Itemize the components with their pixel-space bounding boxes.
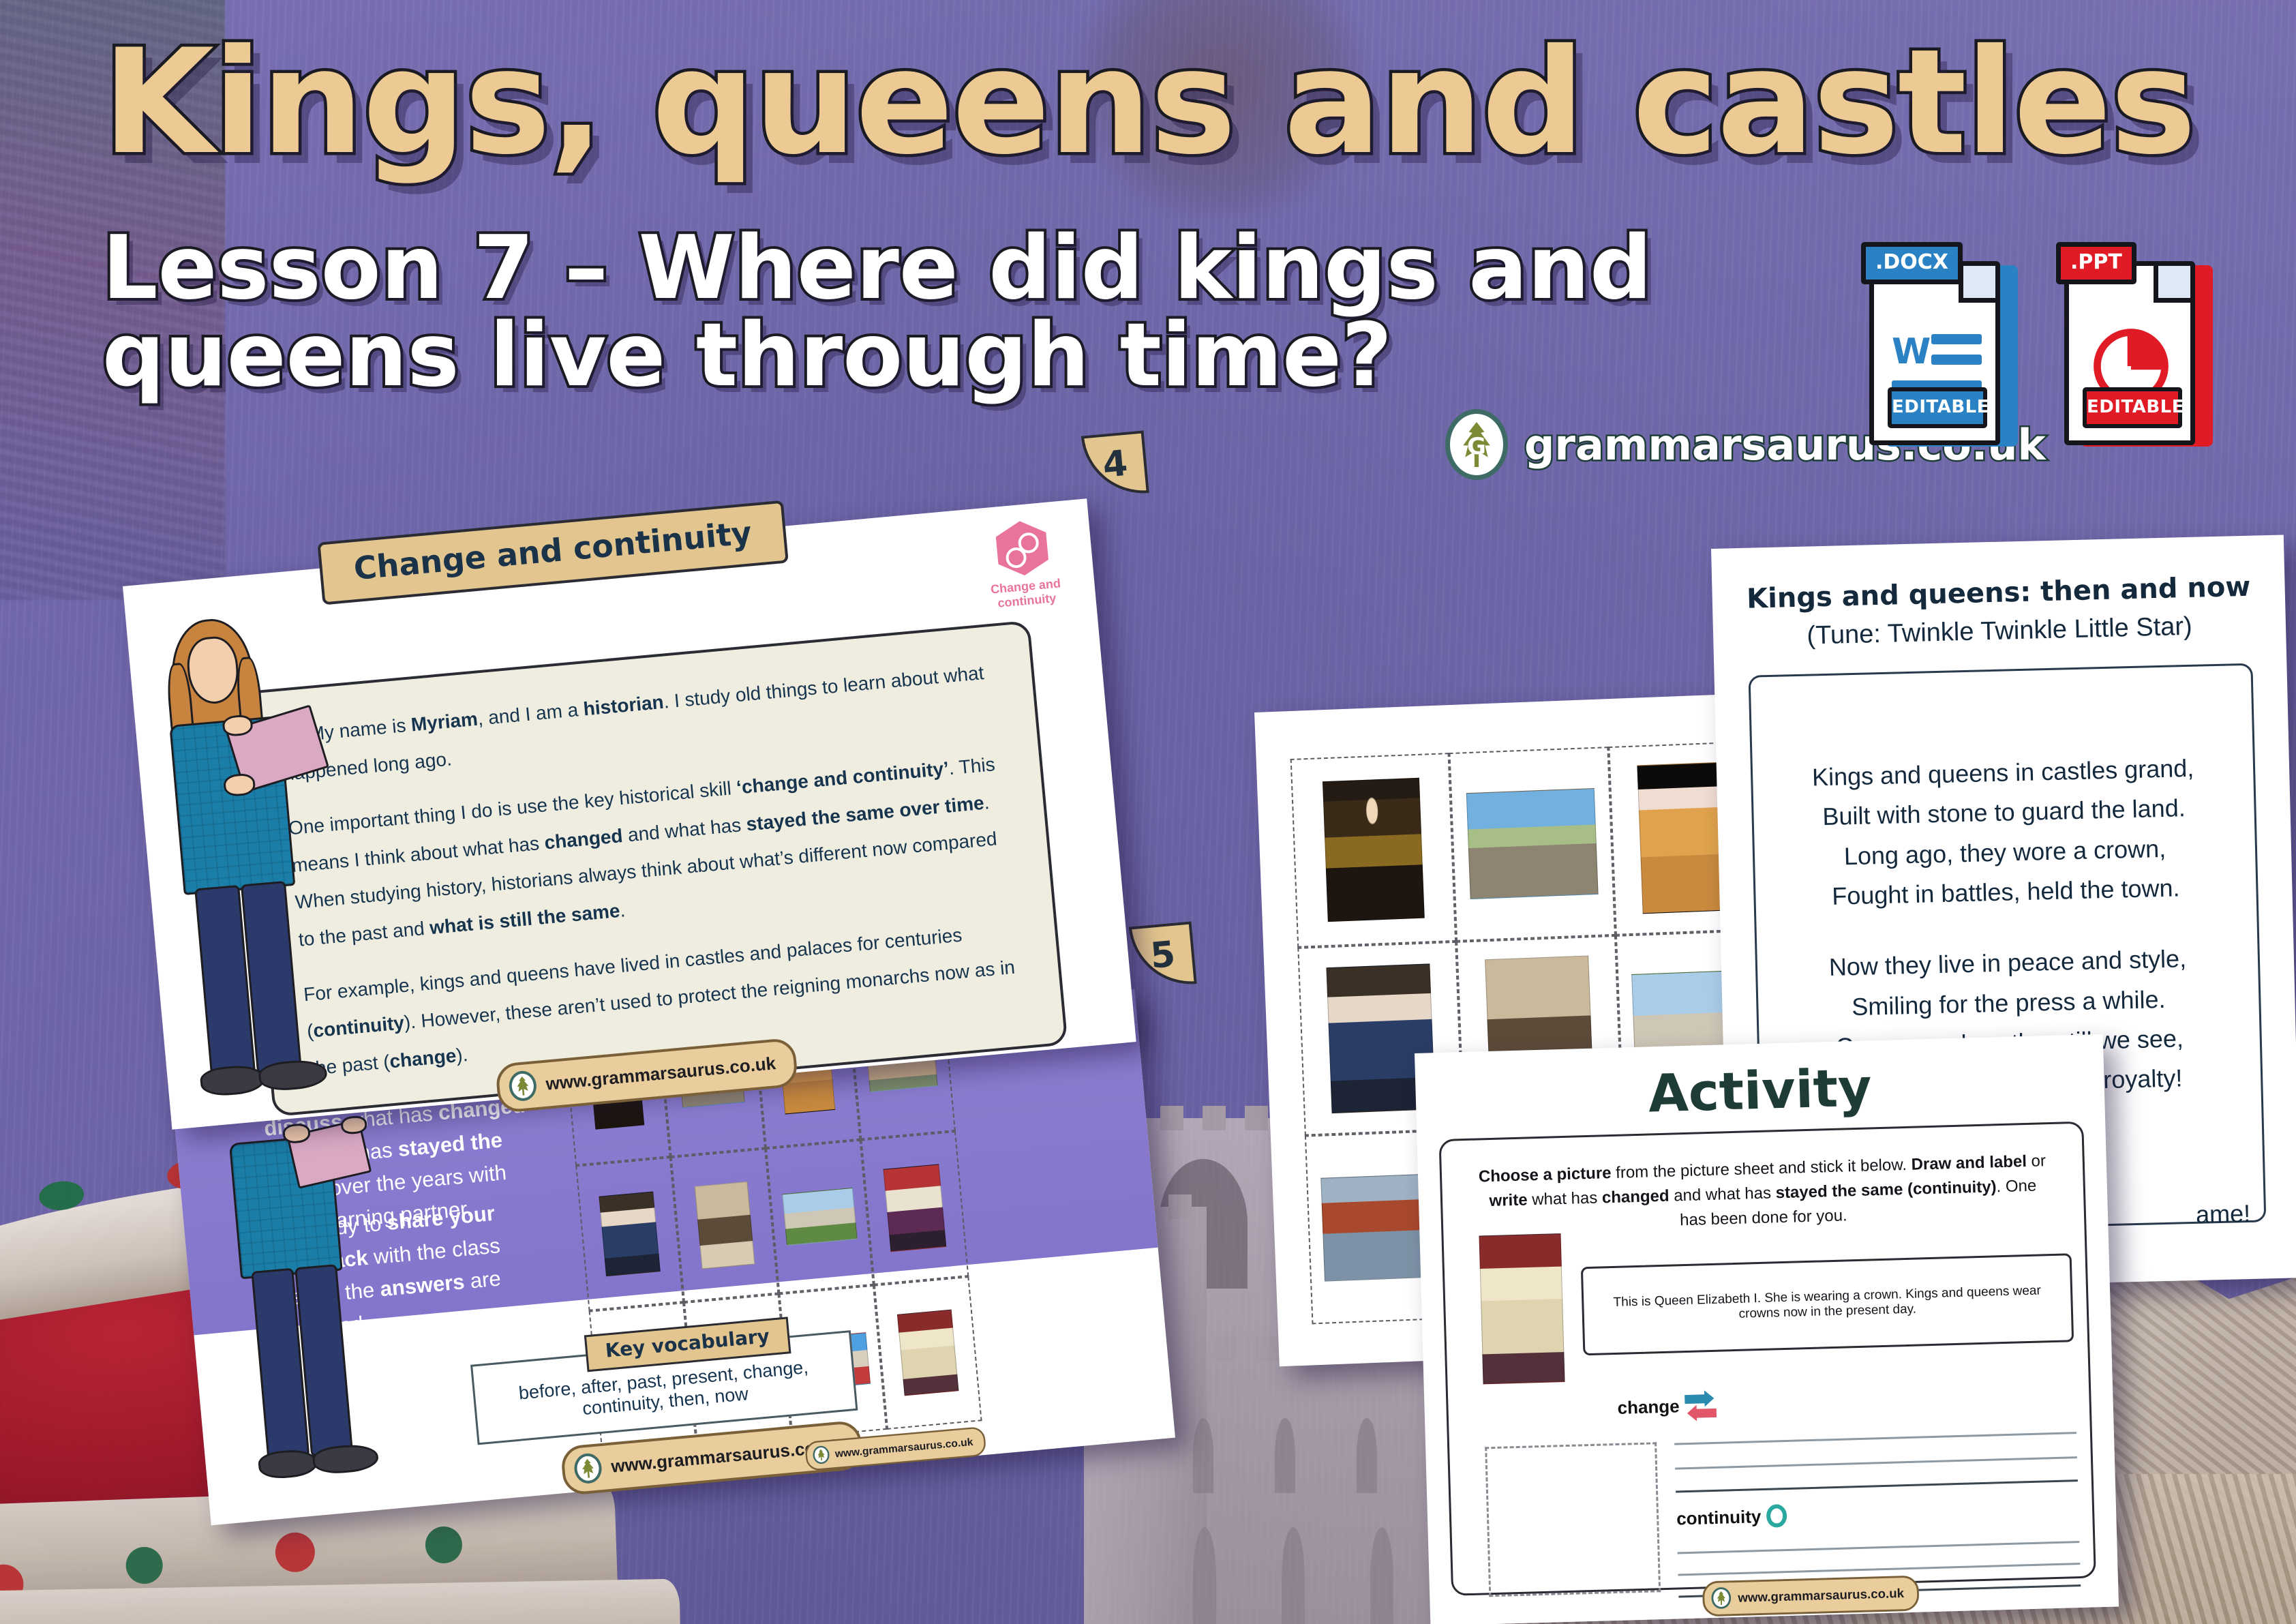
- docx-extension-label: .DOCX: [1861, 242, 1963, 284]
- grammarsaurus-shield-icon: G: [1445, 409, 1508, 480]
- activity-instruction: Choose a picture from the picture sheet …: [1473, 1149, 2053, 1239]
- pg5-cell[interactable]: [575, 1157, 684, 1310]
- skill-badge-label: Change and continuity: [981, 575, 1072, 612]
- activity-footer-url: www.grammarsaurus.co.uk: [1738, 1585, 1904, 1605]
- activity-write-line[interactable]: [1676, 1479, 2078, 1492]
- docx-badge[interactable]: W EDITABLE .DOCX: [1861, 242, 2018, 447]
- grammarsaurus-shield-icon: [1711, 1587, 1732, 1609]
- activity-change-label-row: change: [1617, 1392, 1717, 1422]
- change-arrows-icon: [1685, 1392, 1717, 1419]
- song-verse-1: Kings and queens in castles grand, Built…: [1753, 747, 2256, 918]
- slide-5-page-number: 5: [1149, 934, 1177, 977]
- skill-badge-change-and-continuity: Change and continuity: [976, 517, 1072, 612]
- pg5-cell[interactable]: [766, 1140, 874, 1293]
- poster-header: Kings, queens and castles Lesson 7 – Whe…: [0, 0, 2296, 505]
- ppt-extension-label: .PPT: [2056, 242, 2136, 284]
- grammarsaurus-shield-icon: [508, 1070, 538, 1102]
- file-format-badges: W EDITABLE .DOCX EDITABLE: [1861, 242, 2213, 447]
- pg5-cell[interactable]: [860, 1131, 969, 1284]
- activity-example-text: This is Queen Elizabeth I. She is wearin…: [1593, 1283, 2061, 1326]
- historian-speech-bubble: Hi! My name is Myriam, and I am a histor…: [235, 620, 1068, 1117]
- slide-4-page-number: 4: [1101, 443, 1129, 486]
- activity-example-textbox: This is Queen Elizabeth I. She is wearin…: [1581, 1253, 2074, 1355]
- page-title: Kings, queens and castles: [102, 18, 2195, 186]
- activity-footer: www.grammarsaurus.co.uk: [1702, 1576, 1920, 1617]
- continuity-ring-icon: [1766, 1504, 1787, 1528]
- activity-write-line[interactable]: [1674, 1432, 2076, 1445]
- activity-write-line[interactable]: [1678, 1541, 2080, 1554]
- pg5-cell[interactable]: [671, 1149, 779, 1302]
- grammarsaurus-shield-icon: [812, 1445, 830, 1464]
- picture-sheet-cell[interactable]: [1290, 753, 1457, 947]
- ppt-badge[interactable]: EDITABLE .PPT: [2056, 242, 2213, 447]
- activity-drawing-box[interactable]: [1485, 1442, 1661, 1597]
- song-title: Kings and queens: then and now: [1732, 571, 2265, 615]
- activity-continuity-label: continuity: [1676, 1506, 1762, 1529]
- activity-change-label: change: [1617, 1396, 1680, 1419]
- picture-sheet-cell[interactable]: [1449, 747, 1616, 941]
- docx-editable-label: EDITABLE: [1888, 387, 1987, 428]
- activity-sheet-card[interactable]: Activity Choose a picture from the pictu…: [1415, 1034, 2119, 1624]
- song-subtitle: (Tune: Twinkle Twinkle Little Star): [1734, 610, 2266, 652]
- activity-write-line[interactable]: [1678, 1563, 2080, 1576]
- historian-illustration-2: [186, 1111, 399, 1548]
- picture-sheet-footer-url: www.grammarsaurus.co.uk: [834, 1435, 973, 1460]
- slide-4-footer-url: www.grammarsaurus.co.uk: [545, 1053, 776, 1095]
- change-continuity-icon: [995, 519, 1050, 577]
- pg5-cell[interactable]: [874, 1276, 982, 1430]
- grammarsaurus-shield-icon: [573, 1452, 603, 1484]
- activity-title: Activity: [1415, 1051, 2105, 1130]
- activity-body-box: Choose a picture from the picture sheet …: [1439, 1122, 2096, 1596]
- lesson-subtitle: Lesson 7 – Where did kings and queens li…: [102, 225, 1652, 400]
- activity-continuity-label-row: continuity: [1676, 1504, 1787, 1531]
- activity-write-line[interactable]: [1675, 1456, 2077, 1469]
- ppt-editable-label: EDITABLE: [2083, 387, 2182, 428]
- activity-example-image: [1479, 1233, 1565, 1384]
